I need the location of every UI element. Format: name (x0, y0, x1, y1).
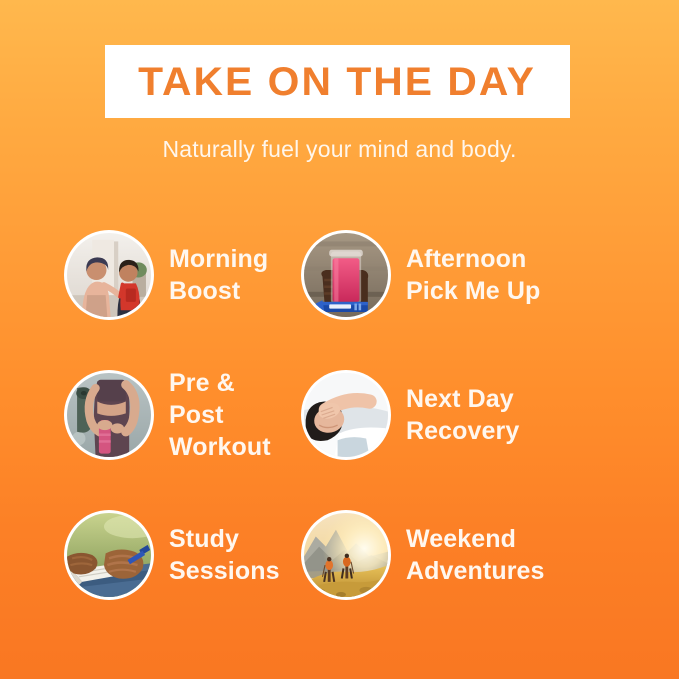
promo-poster: TAKE ON THE DAY Naturally fuel your mind… (0, 0, 679, 679)
benefit-label-line2: Workout (169, 431, 296, 463)
benefit-thumbnail (64, 370, 154, 460)
page-subtitle: Naturally fuel your mind and body. (0, 136, 679, 163)
benefit-thumbnail (301, 230, 391, 320)
benefit-label: Study Sessions (169, 523, 280, 587)
benefits-row: Pre & Post Workout (0, 345, 679, 485)
benefit-thumbnail (301, 510, 391, 600)
benefits-row: Study Sessions (0, 485, 679, 625)
benefit-item-weekend-adventures: Weekend Adventures (296, 485, 679, 625)
benefits-grid: Morning Boost (0, 205, 679, 625)
woman-with-yoga-mat-and-bottle-photo (67, 373, 151, 457)
benefit-label-line1: Next Day (406, 385, 514, 413)
benefit-label-line1: Afternoon (406, 245, 526, 273)
benefit-thumbnail (64, 510, 154, 600)
benefit-label: Morning Boost (169, 243, 268, 307)
benefit-label-line1: Weekend (406, 525, 516, 553)
benefit-label-line2: Adventures (406, 555, 545, 587)
page-title: TAKE ON THE DAY (139, 62, 537, 102)
hikers-on-mountain-at-sunset-photo (304, 513, 388, 597)
benefit-label-line2: Boost (169, 275, 268, 307)
hands-writing-in-notebook-photo (67, 513, 151, 597)
benefit-thumbnail (301, 370, 391, 460)
title-plaque: TAKE ON THE DAY (105, 45, 570, 118)
benefit-label-line1: Morning (169, 245, 268, 273)
benefit-item-pre-and-post-workout: Pre & Post Workout (0, 345, 296, 485)
benefit-label-line1: Study (169, 525, 239, 553)
benefit-label: Afternoon Pick Me Up (406, 243, 540, 307)
benefit-item-morning-boost: Morning Boost (0, 205, 296, 345)
benefit-label: Weekend Adventures (406, 523, 545, 587)
benefit-label: Next Day Recovery (406, 383, 519, 447)
benefit-item-next-day-recovery: Next Day Recovery (296, 345, 679, 485)
benefit-label-line1: Pre & Post (169, 369, 235, 429)
hand-holding-pink-drink-photo (304, 233, 388, 317)
benefit-item-study-sessions: Study Sessions (0, 485, 296, 625)
benefit-label-line2: Recovery (406, 415, 519, 447)
benefit-item-afternoon-pick-me-up: Afternoon Pick Me Up (296, 205, 679, 345)
benefit-label: Pre & Post Workout (169, 367, 296, 463)
benefit-label-line2: Pick Me Up (406, 275, 540, 307)
woman-resting-in-bed-photo (304, 373, 388, 457)
benefit-label-line2: Sessions (169, 555, 280, 587)
benefit-thumbnail (64, 230, 154, 320)
benefits-row: Morning Boost (0, 205, 679, 345)
mother-and-child-with-backpack-photo (67, 233, 151, 317)
